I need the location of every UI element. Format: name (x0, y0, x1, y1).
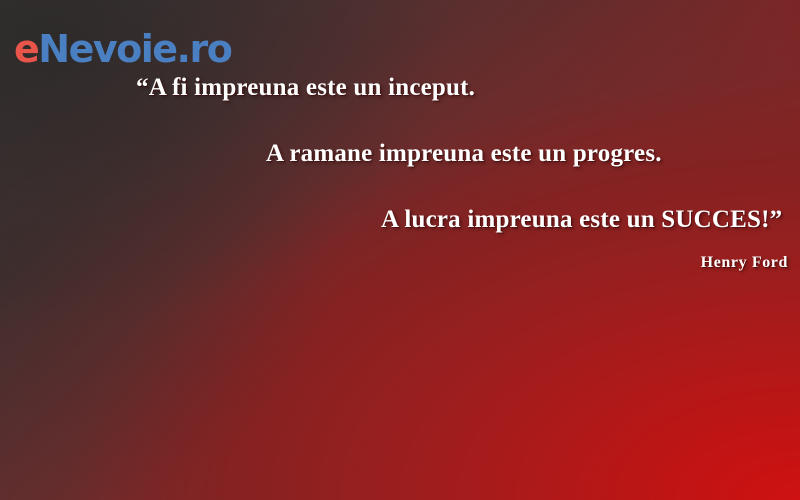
quote-line-1: “A fi impreuna este un inceput. (136, 74, 475, 102)
quote-line-3: A lucra impreuna este un SUCCES!” (381, 206, 782, 234)
quote-line-2: A ramane impreuna este un progres. (266, 140, 662, 168)
quote-block: “A fi impreuna este un inceput. A ramane… (0, 0, 800, 500)
quote-attribution: Henry Ford (701, 254, 788, 272)
quote-poster: eNevoie.ro “A fi impreuna este un incepu… (0, 0, 800, 500)
